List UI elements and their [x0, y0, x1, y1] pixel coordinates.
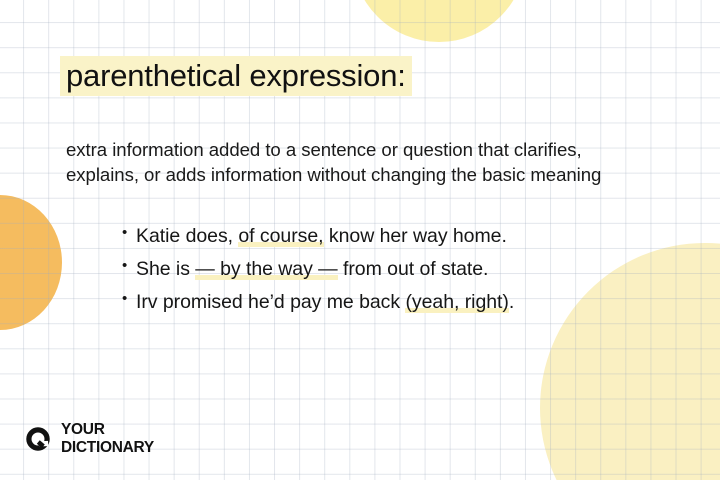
example-highlight: of course, — [238, 225, 323, 247]
logo-line-1: YOUR — [61, 422, 154, 438]
term-title: parenthetical expression: — [66, 56, 406, 96]
yourdictionary-q-mark-icon — [24, 425, 52, 453]
example-suffix: know her way home. — [324, 225, 507, 247]
list-item: She is — by the way — from out of state. — [118, 257, 588, 283]
term-title-container: parenthetical expression: — [66, 56, 406, 96]
list-item: Katie does, of course, know her way home… — [118, 224, 588, 250]
yourdictionary-logo: YOUR DICTIONARY — [24, 422, 154, 455]
example-suffix: . — [509, 291, 514, 313]
example-highlight: (yeah, right) — [405, 291, 508, 313]
example-suffix: from out of state. — [338, 258, 489, 280]
examples-list: Katie does, of course, know her way home… — [118, 224, 588, 323]
example-prefix: Katie does, — [136, 225, 238, 247]
example-prefix: She is — [136, 258, 195, 280]
top-yellow-circle-decoration — [352, 0, 526, 42]
list-item: Irv promised he’d pay me back (yeah, rig… — [118, 290, 588, 316]
left-orange-circle-decoration — [0, 195, 62, 330]
infographic-card: parenthetical expression: extra informat… — [0, 0, 720, 480]
logo-wordmark: YOUR DICTIONARY — [61, 422, 154, 455]
example-prefix: Irv promised he’d pay me back — [136, 291, 405, 313]
logo-line-2: DICTIONARY — [61, 440, 154, 456]
term-definition: extra information added to a sentence or… — [66, 137, 656, 187]
example-highlight: — by the way — — [195, 258, 337, 280]
